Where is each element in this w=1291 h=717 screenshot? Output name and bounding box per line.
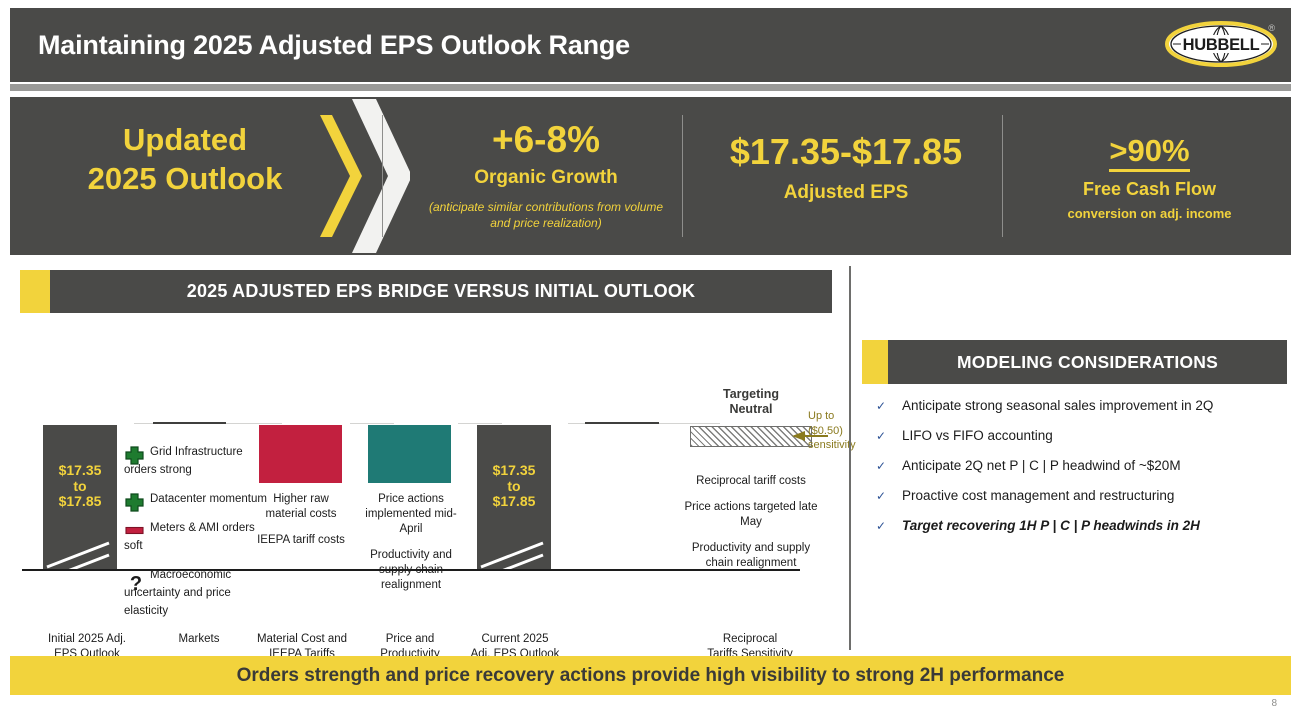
band-divider-2 bbox=[682, 115, 683, 237]
modeling-item-text: Anticipate 2Q net P | C | P headwind of … bbox=[902, 458, 1181, 473]
modeling-considerations-header: MODELING CONSIDERATIONS bbox=[862, 340, 1287, 384]
metric-free-cash-flow-note: conversion on adj. income bbox=[1008, 206, 1291, 221]
sensitivity-note: Up to ($0.50) sensitivity bbox=[808, 409, 870, 453]
reciprocal-note: Productivity and supply chain realignmen… bbox=[678, 541, 824, 571]
plus-icon bbox=[124, 492, 148, 513]
check-icon: ✓ bbox=[876, 459, 886, 473]
svg-text:HUBBELL: HUBBELL bbox=[1183, 36, 1260, 54]
panel-separator bbox=[849, 266, 851, 650]
reciprocal-note: Reciprocal tariff costs bbox=[678, 474, 824, 489]
connector-light-2 bbox=[246, 423, 282, 424]
metric-organic-growth-note: (anticipate similar contributions from v… bbox=[418, 199, 674, 231]
connector-1 bbox=[153, 422, 226, 424]
eps-bridge-title: 2025 ADJUSTED EPS BRIDGE VERSUS INITIAL … bbox=[50, 270, 832, 313]
axis-break-icon bbox=[43, 533, 117, 573]
metric-free-cash-flow-label: Free Cash Flow bbox=[1008, 179, 1291, 200]
header-accent-tab bbox=[862, 340, 888, 384]
connector-light-3 bbox=[350, 423, 394, 424]
metric-adjusted-eps-value: $17.35-$17.85 bbox=[692, 131, 1000, 173]
modeling-considerations-panel: MODELING CONSIDERATIONS ✓ Anticipate str… bbox=[862, 340, 1287, 548]
markets-bullet-item: Grid Infrastructure orders strong bbox=[124, 442, 272, 478]
metric-free-cash-flow-value: >90% bbox=[1008, 133, 1291, 169]
modeling-item-text: Target recovering 1H P | C | P headwinds… bbox=[902, 518, 1200, 533]
check-icon: ✓ bbox=[876, 399, 886, 413]
check-icon: ✓ bbox=[876, 429, 886, 443]
bar-material-cost bbox=[259, 425, 342, 483]
price-productivity-note: Price actions implemented mid-April bbox=[363, 492, 459, 537]
connector-light-4 bbox=[458, 423, 502, 424]
modeling-item-text: Anticipate strong seasonal sales improve… bbox=[902, 398, 1213, 413]
x-axis-line bbox=[22, 569, 800, 571]
reciprocal-note: Price actions targeted late May bbox=[678, 500, 824, 530]
page-title: Maintaining 2025 Adjusted EPS Outlook Ra… bbox=[38, 30, 630, 61]
material-cost-note: IEEPA tariff costs bbox=[253, 533, 349, 548]
price-productivity-notes: Price actions implemented mid-April Prod… bbox=[363, 492, 459, 593]
check-icon: ✓ bbox=[876, 519, 886, 533]
header-accent-tab bbox=[20, 270, 50, 313]
modeling-considerations-list: ✓ Anticipate strong seasonal sales impro… bbox=[862, 398, 1287, 533]
band-divider-1 bbox=[382, 115, 383, 237]
metric-organic-growth-label: Organic Growth bbox=[392, 167, 700, 189]
footer-banner: Orders strength and price recovery actio… bbox=[10, 656, 1291, 695]
minus-icon bbox=[124, 526, 148, 535]
markets-bullet-list: Grid Infrastructure orders strong Datace… bbox=[124, 442, 272, 630]
connector-2 bbox=[585, 422, 659, 424]
markets-bullet-item: Datacenter momentum bbox=[124, 489, 272, 507]
slide: Maintaining 2025 Adjusted EPS Outlook Ra… bbox=[0, 0, 1291, 717]
metric-organic-growth: +6-8% Organic Growth (anticipate similar… bbox=[392, 97, 700, 255]
plus-icon bbox=[124, 445, 148, 466]
x-tick-label: Markets bbox=[154, 632, 244, 647]
metric-organic-growth-value: +6-8% bbox=[392, 119, 700, 161]
modeling-list-item: ✓ Anticipate strong seasonal sales impro… bbox=[876, 398, 1287, 413]
chevron-right-icon bbox=[310, 97, 390, 255]
modeling-item-text: Proactive cost management and restructur… bbox=[902, 488, 1174, 503]
bar-current-outlook-label: $17.35 to $17.85 bbox=[477, 463, 551, 510]
targeting-neutral-label: Targeting Neutral bbox=[676, 387, 826, 417]
waterfall-plot: $17.35 to $17.85 Grid Infrast bbox=[20, 322, 845, 652]
bar-current-outlook: $17.35 to $17.85 bbox=[477, 425, 551, 569]
eps-bridge-header: 2025 ADJUSTED EPS BRIDGE VERSUS INITIAL … bbox=[20, 270, 832, 313]
registered-mark: ® bbox=[1268, 23, 1275, 33]
bar-price-productivity bbox=[368, 425, 451, 483]
material-cost-notes: Higher raw material costs IEEPA tariff c… bbox=[253, 492, 349, 548]
header-divider bbox=[10, 84, 1291, 91]
axis-break-icon bbox=[477, 533, 551, 573]
updated-outlook-line2: 2025 Outlook bbox=[40, 160, 330, 199]
band-divider-3 bbox=[1002, 115, 1003, 237]
check-icon: ✓ bbox=[876, 489, 886, 503]
modeling-considerations-title: MODELING CONSIDERATIONS bbox=[888, 340, 1287, 384]
markets-bullet-item: ? Macroeconomic uncertainty and price el… bbox=[124, 565, 272, 619]
modeling-item-text: LIFO vs FIFO accounting bbox=[902, 428, 1053, 443]
bar-initial-outlook: $17.35 to $17.85 bbox=[43, 425, 117, 569]
metric-free-cash-flow: >90% Free Cash Flow conversion on adj. i… bbox=[1008, 97, 1291, 255]
modeling-list-item: ✓ Proactive cost management and restruct… bbox=[876, 488, 1287, 503]
markets-bullet-item: Meters & AMI orders soft bbox=[124, 518, 272, 554]
markets-bullet-text: Datacenter momentum bbox=[150, 493, 267, 505]
updated-outlook-band: Updated 2025 Outlook +6-8% Organic Growt… bbox=[10, 97, 1291, 255]
metric-adjusted-eps-label: Adjusted EPS bbox=[692, 182, 1000, 204]
modeling-list-item: ✓ Anticipate 2Q net P | C | P headwind o… bbox=[876, 458, 1287, 473]
modeling-list-item: ✓ Target recovering 1H P | C | P headwin… bbox=[876, 518, 1287, 533]
bar-initial-outlook-label: $17.35 to $17.85 bbox=[43, 463, 117, 510]
slide-header: Maintaining 2025 Adjusted EPS Outlook Ra… bbox=[10, 8, 1291, 82]
eps-bridge-panel: 2025 ADJUSTED EPS BRIDGE VERSUS INITIAL … bbox=[20, 262, 845, 652]
reciprocal-notes: Reciprocal tariff costs Price actions ta… bbox=[678, 474, 824, 571]
updated-outlook-label: Updated 2025 Outlook bbox=[40, 121, 330, 199]
hubbell-logo: HUBBELL ® bbox=[1165, 19, 1277, 69]
material-cost-note: Higher raw material costs bbox=[253, 492, 349, 522]
question-icon: ? bbox=[124, 574, 148, 594]
metric-adjusted-eps: $17.35-$17.85 Adjusted EPS bbox=[692, 97, 1000, 255]
footer-text: Orders strength and price recovery actio… bbox=[237, 665, 1065, 687]
updated-outlook-line1: Updated bbox=[40, 121, 330, 160]
page-number: 8 bbox=[1271, 698, 1277, 709]
modeling-list-item: ✓ LIFO vs FIFO accounting bbox=[876, 428, 1287, 443]
